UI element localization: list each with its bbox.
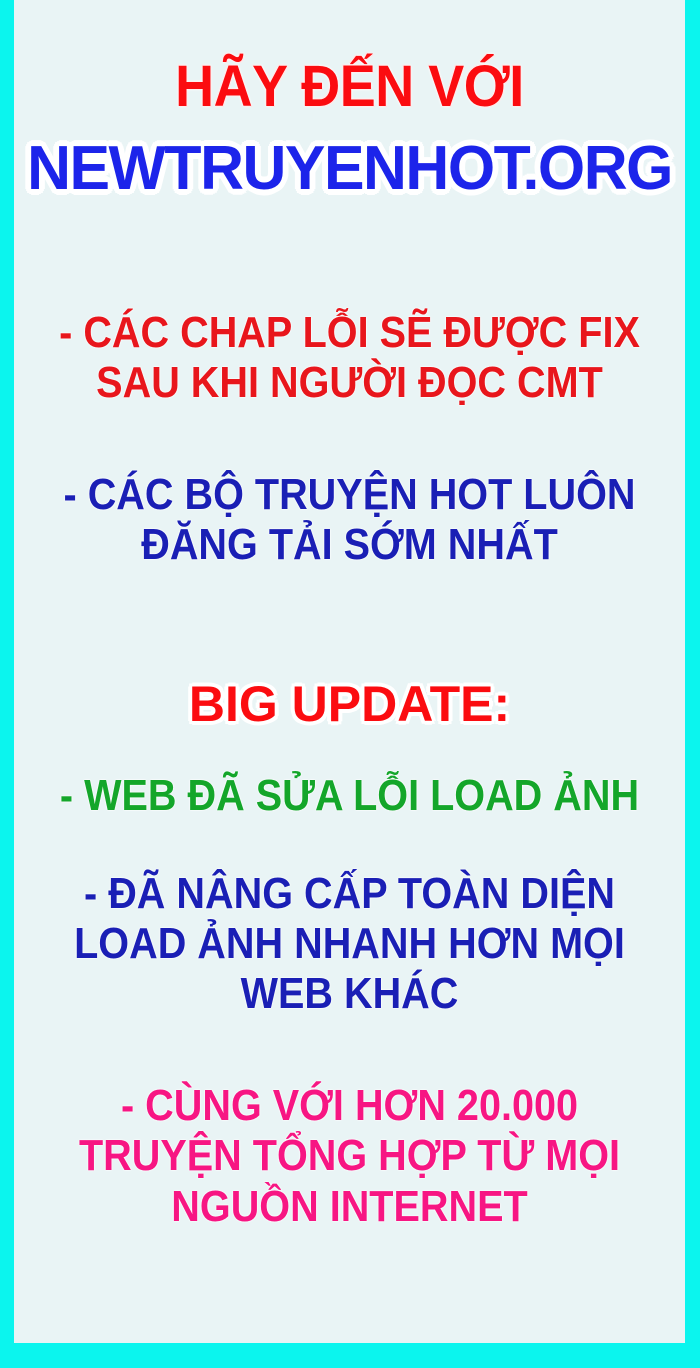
- poster-content-panel: HÃY ĐẾN VỚI NEWTRUYENHOT.ORG - CÁC CHAP …: [14, 0, 685, 1343]
- block-hot-series-line-1: - CÁC BỘ TRUYỆN HOT LUÔN: [48, 470, 652, 520]
- block-full-upgrade: - ĐÃ NÂNG CẤP TOÀN DIỆN LOAD ẢNH NHANH H…: [48, 869, 652, 1019]
- block-image-load-fixed: - WEB ĐÃ SỬA LỖI LOAD ẢNH: [48, 771, 652, 821]
- site-domain-headline[interactable]: NEWTRUYENHOT.ORG: [21, 138, 679, 200]
- block-hot-series: - CÁC BỘ TRUYỆN HOT LUÔN ĐĂNG TẢI SỚM NH…: [48, 470, 652, 570]
- block-full-upgrade-line-2: LOAD ẢNH NHANH HƠN MỌI: [48, 919, 652, 969]
- block-hot-series-line-2: ĐĂNG TẢI SỚM NHẤT: [48, 520, 652, 570]
- block-chap-fix-line-2: SAU KHI NGƯỜI ĐỌC CMT: [48, 358, 652, 408]
- section-heading-big-update: BIG UPDATE:: [14, 679, 685, 729]
- promo-poster: HÃY ĐẾN VỚI NEWTRUYENHOT.ORG - CÁC CHAP …: [0, 0, 700, 1368]
- block-story-count-line-3: NGUỒN INTERNET: [48, 1182, 652, 1232]
- block-story-count-line-1: - CÙNG VỚI HƠN 20.000: [48, 1081, 652, 1131]
- block-chap-fix-line-1: - CÁC CHAP LỖI SẼ ĐƯỢC FIX: [48, 308, 652, 358]
- block-full-upgrade-line-1: - ĐÃ NÂNG CẤP TOÀN DIỆN: [48, 869, 652, 919]
- bottom-cyan-band: [0, 1343, 700, 1368]
- block-chap-fix: - CÁC CHAP LỖI SẼ ĐƯỢC FIX SAU KHI NGƯỜI…: [48, 308, 652, 408]
- headline-primary: HÃY ĐẾN VỚI: [37, 58, 661, 116]
- block-story-count: - CÙNG VỚI HƠN 20.000 TRUYỆN TỔNG HỢP TỪ…: [48, 1081, 652, 1231]
- block-full-upgrade-line-3: WEB KHÁC: [48, 969, 652, 1019]
- block-image-load-fixed-line-1: - WEB ĐÃ SỬA LỖI LOAD ẢNH: [48, 771, 652, 821]
- block-story-count-line-2: TRUYỆN TỔNG HỢP TỪ MỌI: [48, 1131, 652, 1181]
